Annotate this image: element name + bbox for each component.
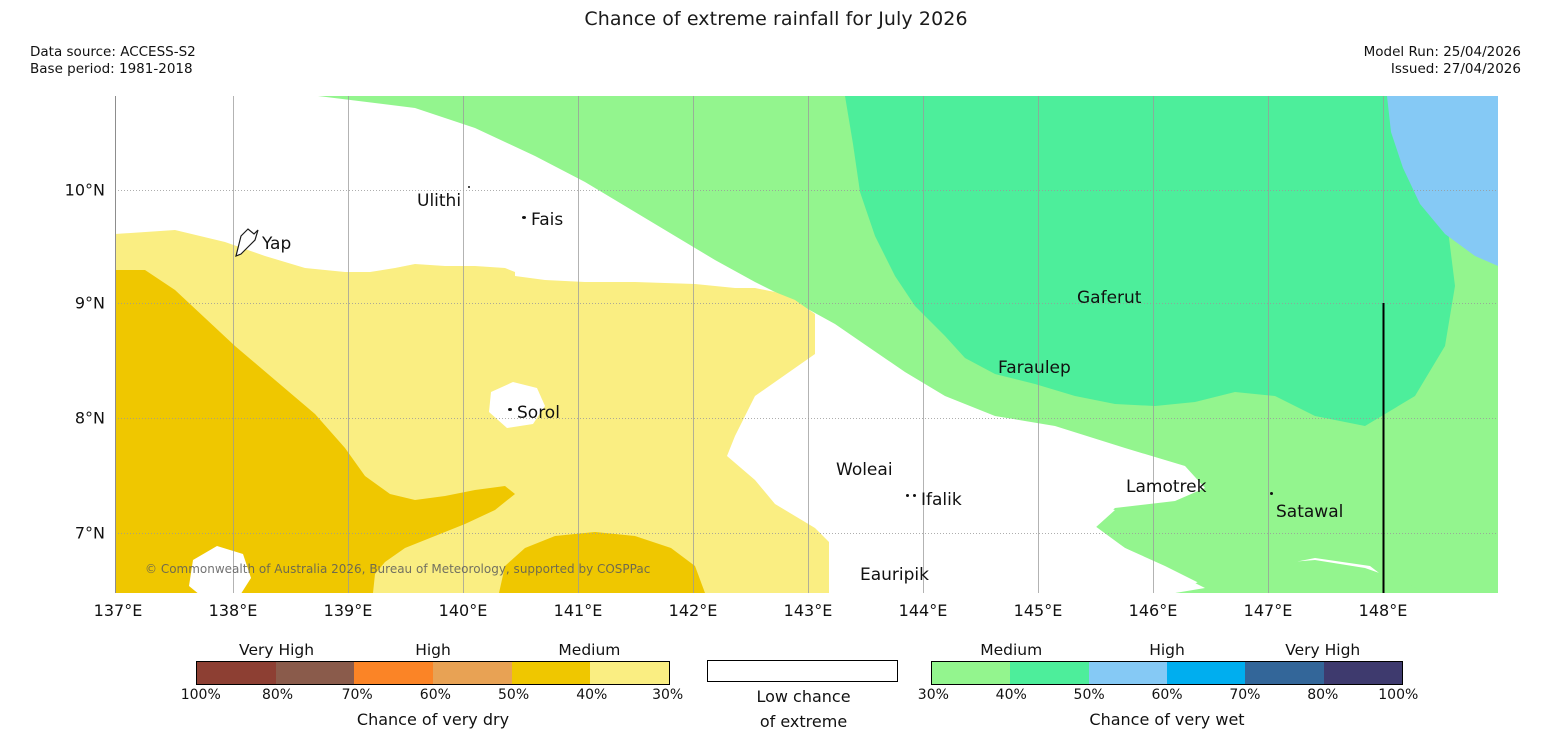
legend-wet-tick-6: 100%: [1378, 687, 1418, 703]
legend-dry-tick-3: 60%: [420, 687, 451, 703]
legend-dry-title: Chance of very dry: [196, 710, 670, 729]
place-label-gaferut: Gaferut: [1077, 288, 1141, 308]
legend-wet-swatch-60-70[interactable]: [1167, 662, 1245, 684]
place-label-ulithi: Ulithi: [417, 191, 461, 211]
legend-dry-swatch-50-40[interactable]: [512, 662, 591, 684]
base-period-text: Base period: 1981-2018: [30, 61, 196, 78]
y-tick-0: 10°N: [50, 181, 105, 200]
legend-dry-swatch-80-70[interactable]: [276, 662, 355, 684]
data-source-text: Data source: ACCESS-S2: [30, 44, 196, 61]
issued-text: Issued: 27/04/2026: [1364, 61, 1521, 78]
legend-wet-tick-1: 40%: [996, 687, 1027, 703]
place-label-eauripik: Eauripik: [860, 565, 929, 585]
legend-very-dry[interactable]: Very High High Medium 100% 80% 70% 60% 5…: [196, 641, 670, 729]
legend-dry-ticks: 100% 80% 70% 60% 50% 40% 30%: [196, 687, 670, 707]
legend-dry-tick-4: 50%: [498, 687, 529, 703]
legend-wet-swatch-50-60[interactable]: [1089, 662, 1167, 684]
place-label-ifalik: Ifalik: [921, 490, 962, 510]
x-tick-2: 139°E: [324, 601, 373, 620]
legend-dry-cat-high: High: [415, 641, 451, 659]
legend-dry-swatch-100-80[interactable]: [197, 662, 276, 684]
place-label-woleai: Woleai: [836, 460, 893, 480]
x-tick-6: 143°E: [784, 601, 833, 620]
x-tick-11: 148°E: [1359, 601, 1408, 620]
legend-wet-tick-4: 70%: [1229, 687, 1260, 703]
page-title: Chance of extreme rainfall for July 2026: [0, 8, 1552, 30]
place-dot-satawal: [1270, 492, 1273, 495]
legend-dry-tick-0: 100%: [181, 687, 221, 703]
legend-low-label-line2: of extreme: [707, 711, 900, 732]
legend-very-wet[interactable]: Medium High Very High 30% 40% 50% 60% 70…: [931, 641, 1403, 729]
legend-wet-tick-5: 80%: [1307, 687, 1338, 703]
x-tick-4: 141°E: [554, 601, 603, 620]
legend-wet-tick-0: 30%: [918, 687, 949, 703]
place-label-yap: Yap: [262, 234, 291, 254]
legend-dry-tick-5: 40%: [576, 687, 607, 703]
run-metadata: Model Run: 25/04/2026 Issued: 27/04/2026: [1364, 44, 1521, 78]
legend-wet-swatch-30-40[interactable]: [932, 662, 1010, 684]
place-dot-ifalik-a: [906, 494, 909, 497]
place-label-satawal: Satawal: [1276, 502, 1343, 522]
legend-dry-categories: Very High High Medium: [196, 641, 670, 661]
legend-wet-categories: Medium High Very High: [931, 641, 1403, 661]
place-label-sorol: Sorol: [517, 403, 560, 423]
legend-dry-swatches[interactable]: [196, 661, 670, 685]
x-tick-5: 142°E: [669, 601, 718, 620]
copyright-text: © Commonwealth of Australia 2026, Bureau…: [145, 562, 650, 576]
place-dot-ulithi: [468, 186, 470, 188]
legend-dry-tick-2: 70%: [342, 687, 373, 703]
legend-dry-swatch-40-30[interactable]: [590, 662, 669, 684]
y-tick-2: 8°N: [50, 409, 105, 428]
place-label-faraulep: Faraulep: [998, 358, 1071, 378]
model-run-text: Model Run: 25/04/2026: [1364, 44, 1521, 61]
legend-wet-cat-very-high: Very High: [1285, 641, 1360, 659]
legend-dry-swatch-60-50[interactable]: [433, 662, 512, 684]
place-dot-sorol: [508, 408, 512, 411]
legend-wet-tick-2: 50%: [1074, 687, 1105, 703]
x-tick-8: 145°E: [1014, 601, 1063, 620]
legend-wet-ticks: 30% 40% 50% 60% 70% 80% 100%: [931, 687, 1403, 707]
place-dot-ifalik-b: [913, 494, 916, 497]
legend-wet-swatch-40-50[interactable]: [1010, 662, 1088, 684]
x-tick-10: 147°E: [1244, 601, 1293, 620]
x-tick-9: 146°E: [1129, 601, 1178, 620]
source-metadata: Data source: ACCESS-S2 Base period: 1981…: [30, 44, 196, 78]
x-tick-3: 140°E: [439, 601, 488, 620]
legend-wet-swatches[interactable]: [931, 661, 1403, 685]
legend-wet-cat-high: High: [1149, 641, 1185, 659]
place-label-lamotrek: Lamotrek: [1126, 477, 1206, 497]
legend-dry-cat-very-high: Very High: [239, 641, 314, 659]
legend-dry-tick-1: 80%: [262, 687, 293, 703]
x-tick-1: 138°E: [209, 601, 258, 620]
x-tick-0: 137°E: [94, 601, 143, 620]
legend-dry-swatch-70-60[interactable]: [354, 662, 433, 684]
legend-low-swatch[interactable]: [707, 660, 898, 682]
legend-low-label-line1: Low chance: [707, 686, 900, 707]
place-dot-fais: [522, 216, 526, 219]
legend-wet-cat-medium: Medium: [980, 641, 1042, 659]
legend-wet-title: Chance of very wet: [931, 710, 1403, 729]
y-tick-1: 9°N: [50, 294, 105, 313]
legend-wet-tick-3: 60%: [1151, 687, 1182, 703]
y-tick-3: 7°N: [50, 524, 105, 543]
place-label-fais: Fais: [531, 210, 563, 230]
legend-wet-swatch-70-80[interactable]: [1245, 662, 1323, 684]
legend-dry-tick-6: 30%: [652, 687, 683, 703]
x-tick-7: 144°E: [899, 601, 948, 620]
legend-wet-swatch-80-100[interactable]: [1324, 662, 1402, 684]
legend-dry-cat-medium: Medium: [558, 641, 620, 659]
legend-low-chance[interactable]: Low chance of extreme: [707, 660, 900, 732]
